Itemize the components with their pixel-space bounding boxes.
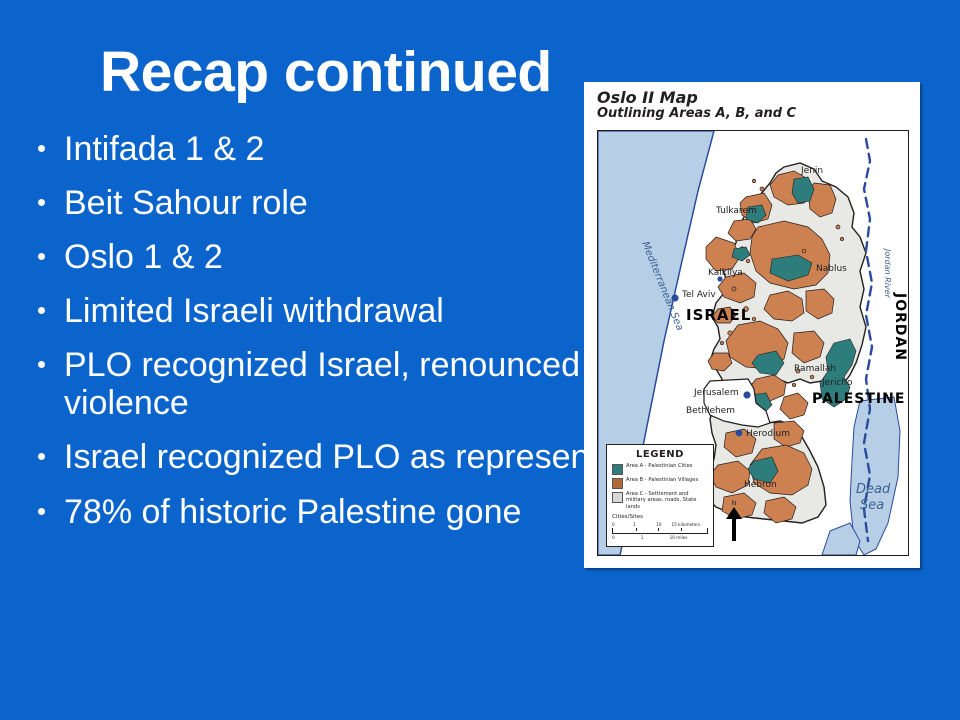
map-label-jericho: Jericho — [821, 378, 853, 388]
scale-mi-tick-1: 1 — [641, 535, 644, 540]
legend-title: LEGEND — [612, 449, 708, 460]
oslo-ii-map-image: Oslo II Map Outlining Areas A, B, and C — [584, 82, 920, 568]
legend-label-area-b: Area B - Palestinian Villages — [626, 477, 698, 484]
map-label-kalkilya: Kalkilya — [708, 268, 743, 278]
map-label-bethlehem: Bethlehem — [686, 406, 735, 416]
list-item-label: 78% of historic Palestine gone — [64, 493, 521, 531]
map-label-jordan-river: Jordan River — [883, 247, 892, 299]
map-label-tulkarem: Tulkarem — [715, 206, 757, 216]
list-item: PLO recognized Israel, renounced violenc… — [30, 346, 590, 422]
bullet-list: Intifada 1 & 2 Beit Sahour role Oslo 1 &… — [30, 130, 590, 547]
map-label-palestine: PALESTINE — [812, 391, 905, 407]
scale-km-tick-1: 1 — [633, 522, 636, 527]
scale-bar-miles: 0 1 10 miles — [612, 535, 708, 541]
legend-item-area-a: Area A - Palestinian Cities — [612, 463, 708, 475]
list-item-label: Oslo 1 & 2 — [64, 238, 223, 276]
map-label-jordan: JORDAN — [892, 292, 908, 361]
map-label-herodium: Herodium — [746, 429, 790, 439]
map-frame: Mediterranean Sea Jordan River Dead Sea … — [597, 130, 909, 556]
north-arrow-glyph — [725, 507, 743, 541]
map-legend: LEGEND Area A - Palestinian Cities Area … — [606, 444, 714, 548]
map-label-israel: ISRAEL — [686, 306, 751, 324]
bullet-dot-icon — [38, 253, 45, 260]
legend-swatch-area-b — [612, 478, 623, 489]
legend-item-area-c: Area C - Settlement and military areas, … — [612, 491, 708, 511]
map-label-jerusalem: Jerusalem — [693, 388, 739, 398]
bullet-dot-icon — [38, 307, 45, 314]
list-item: Beit Sahour role — [30, 184, 590, 222]
legend-label-area-c: Area C - Settlement and military areas, … — [626, 491, 708, 511]
map-label-dead-sea-2: Sea — [860, 498, 884, 513]
scale-km-unit: 15 kilometers — [672, 522, 701, 527]
scale-bar-kilometers: 0 1 10 15 kilometers — [612, 522, 708, 534]
presentation-slide: Recap continued Intifada 1 & 2 Beit Saho… — [0, 0, 960, 720]
map-label-nablus: Nablus — [816, 264, 847, 274]
north-arrow-icon: N — [725, 501, 743, 545]
map-label-ramallah: Ramallah — [794, 364, 836, 374]
list-item-label: Intifada 1 & 2 — [64, 130, 264, 168]
list-item-label: Israel recognized PLO as representative — [64, 438, 671, 476]
bullet-dot-icon — [38, 145, 45, 152]
map-label-jenin: Jenin — [800, 166, 823, 176]
list-item-label: Limited Israeli withdrawal — [64, 292, 444, 330]
legend-label-area-a: Area A - Palestinian Cities — [626, 463, 692, 470]
map-subtitle: Outlining Areas A, B, and C — [597, 107, 796, 121]
list-item: Oslo 1 & 2 — [30, 238, 590, 276]
legend-swatch-area-c — [612, 492, 623, 503]
scale-km-tick-0: 0 — [612, 522, 615, 527]
list-item-label: PLO recognized Israel, renounced violenc… — [64, 346, 580, 422]
list-item: Intifada 1 & 2 — [30, 130, 590, 168]
page-title: Recap continued — [100, 44, 600, 101]
map-title-block: Oslo II Map Outlining Areas A, B, and C — [597, 90, 796, 120]
list-item: Limited Israeli withdrawal — [30, 292, 590, 330]
dead-sea-shape — [850, 397, 900, 555]
scale-km-tick-2: 10 — [656, 522, 661, 527]
scale-mi-unit: 10 miles — [670, 535, 688, 540]
map-label-dead-sea: Dead — [856, 482, 891, 497]
legend-swatch-area-a — [612, 464, 623, 475]
bullet-dot-icon — [38, 508, 45, 515]
legend-item-area-b: Area B - Palestinian Villages — [612, 477, 708, 489]
map-label-hebron: Hebron — [744, 480, 777, 490]
bullet-dot-icon — [38, 361, 45, 368]
list-item-label: Beit Sahour role — [64, 184, 308, 222]
map-title: Oslo II Map — [597, 90, 796, 107]
bullet-dot-icon — [38, 199, 45, 206]
map-label-tel-aviv: Tel Aviv — [681, 290, 716, 300]
legend-label-cities-sites: Cities/Sites — [612, 514, 708, 520]
bullet-dot-icon — [38, 453, 45, 460]
scale-mi-tick-0: 0 — [612, 535, 615, 540]
